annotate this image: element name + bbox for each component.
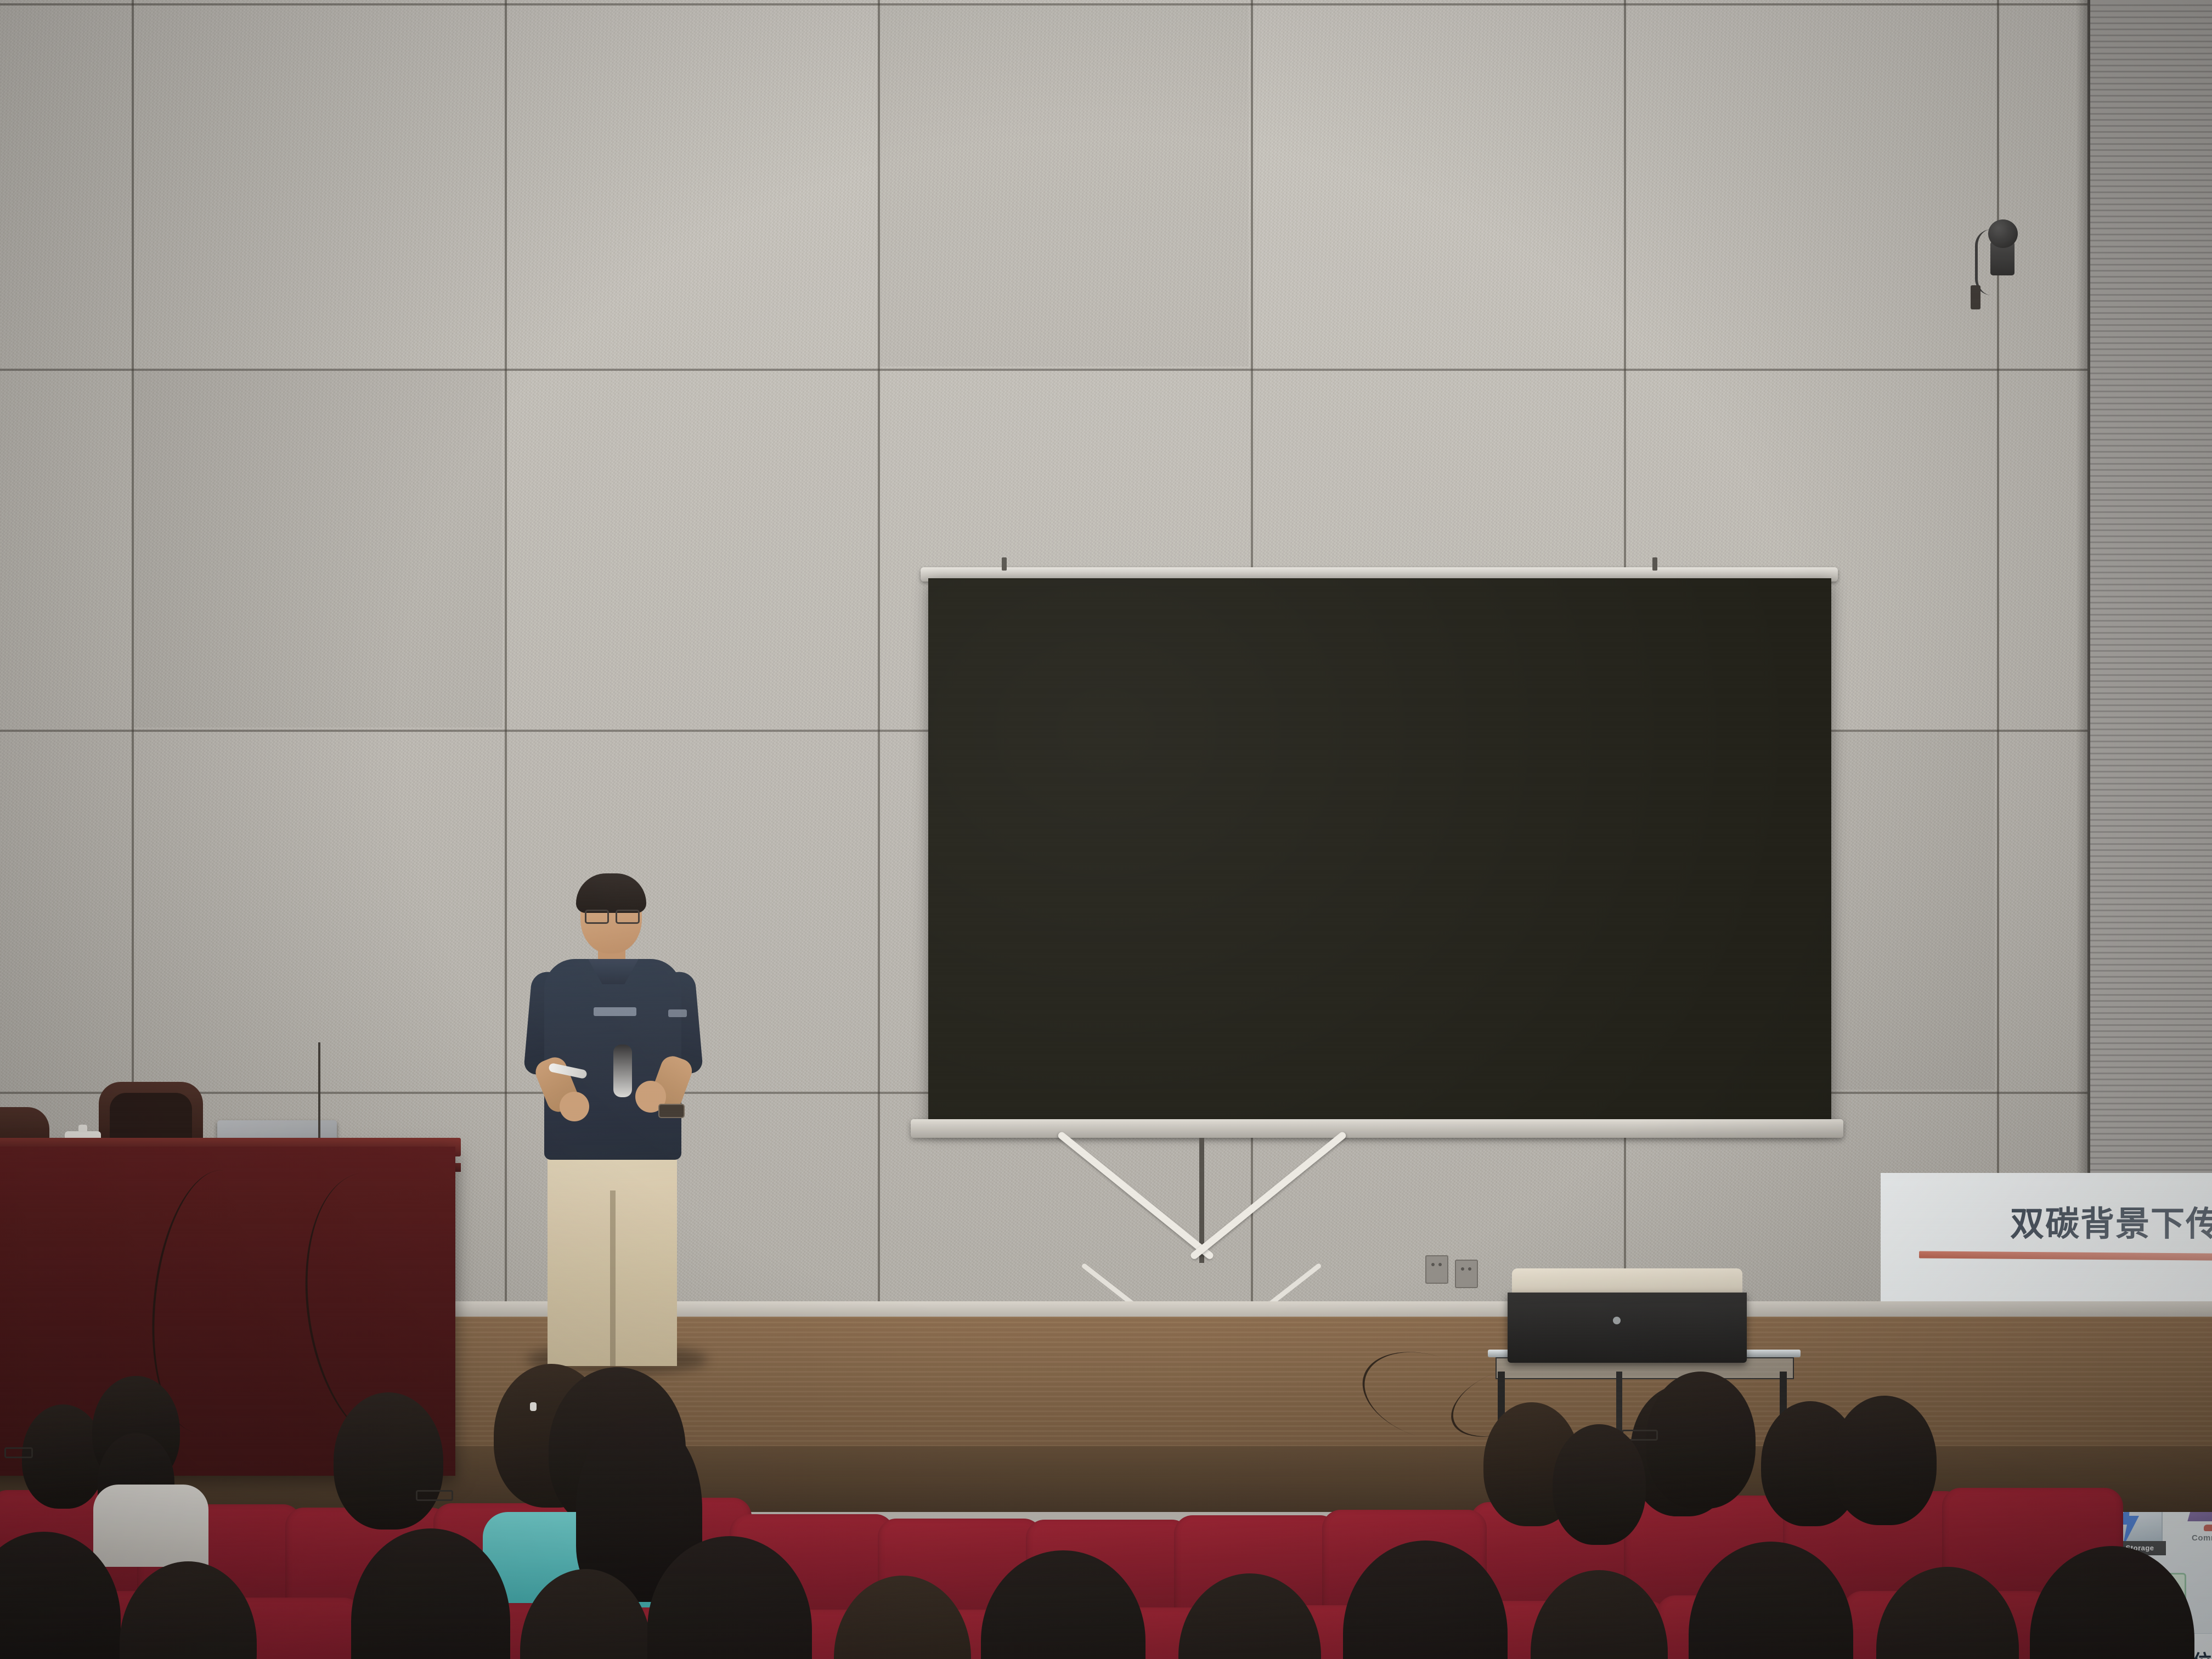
presenter-leg-seam [610, 1190, 616, 1366]
wall-outlet-icon[interactable] [1455, 1260, 1478, 1288]
presenter-torso [544, 959, 681, 1160]
audience-shoulders [93, 1485, 208, 1567]
presenter-sleeve-logo [668, 1009, 687, 1017]
camera-clip-icon [1971, 285, 1980, 309]
slide-title-rule [1919, 1251, 2212, 1264]
projector-top-shell [1512, 1268, 1742, 1296]
presenter-hand-left [560, 1092, 589, 1121]
wall-tile-seam [505, 0, 507, 1328]
screen-hook-icon [1652, 557, 1657, 571]
audience-head [1646, 1372, 1756, 1509]
wall-camera-icon [1988, 219, 2018, 248]
projector-lens-icon [1613, 1317, 1621, 1324]
presenter-shirt-logo [594, 1007, 636, 1016]
wall-tile-shade [880, 5, 1249, 366]
ribbed-acoustic-panel [2087, 0, 2212, 1317]
cup-knob-icon [78, 1125, 87, 1132]
microphone-stand-rod [318, 1042, 320, 1152]
audience-glasses-icon [416, 1490, 453, 1501]
audience-head [334, 1392, 443, 1530]
slide-title: 双碳背景下传统液态锂离子电池的困境 [1881, 1196, 2212, 1245]
lecture-hall-photo: 双碳背景下传统液态锂离子电池的困境 双碳背景下-新能源技术支持可持续发展 高能量… [0, 0, 2212, 1659]
screen-bottom-bar [911, 1119, 1843, 1138]
earbud-icon [530, 1402, 537, 1411]
audience-head [22, 1404, 104, 1509]
diagram-label-commercial: Commercial [2192, 1533, 2212, 1543]
wall-tile-seam [1997, 0, 1999, 1328]
audience-glasses-icon [4, 1447, 33, 1458]
wall-outlet-icon[interactable] [1425, 1255, 1448, 1284]
projection-screen[interactable]: 双碳背景下传统液态锂离子电池的困境 双碳背景下-新能源技术支持可持续发展 高能量… [928, 578, 1831, 1128]
microphone[interactable] [613, 1045, 632, 1097]
screen-hook-icon [1002, 557, 1007, 571]
audience-head [1832, 1396, 1937, 1525]
audience-head [1553, 1424, 1646, 1545]
wristwatch-icon [658, 1104, 685, 1118]
presenter-glasses-icon [585, 910, 637, 921]
wall-tile-shade [134, 371, 503, 727]
projector[interactable] [1508, 1293, 1747, 1363]
